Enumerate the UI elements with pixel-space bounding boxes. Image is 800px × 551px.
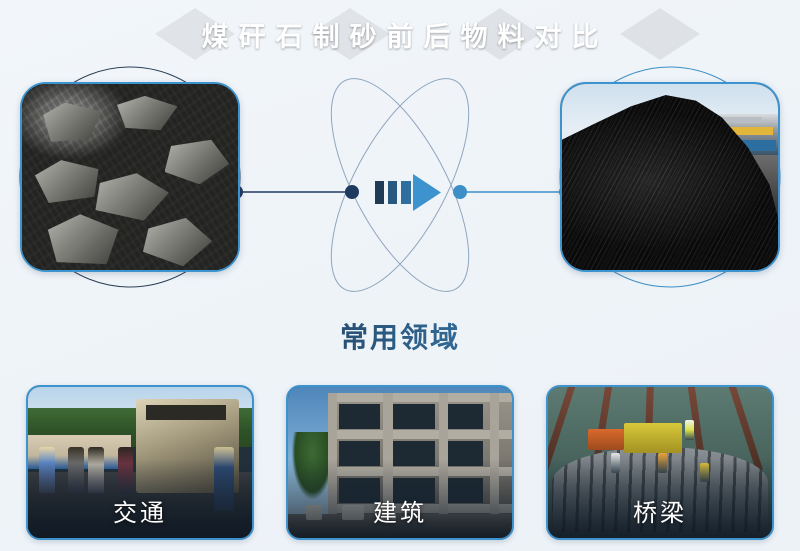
photo-after-sand-pile	[560, 82, 780, 272]
application-card-list: 交通	[0, 385, 800, 545]
process-arrow-icon	[375, 174, 441, 211]
node-dot-left-inner	[345, 185, 359, 199]
photo-after-image	[562, 84, 778, 270]
infographic-page: 煤矸石制砂前后物料对比	[0, 0, 800, 551]
construction-machine	[624, 423, 682, 453]
card-construction[interactable]: 建筑	[286, 385, 514, 540]
card-transportation-label: 交通	[28, 493, 252, 528]
worker-figure	[118, 447, 134, 492]
card-transportation[interactable]: 交通	[26, 385, 254, 540]
photo-before-raw-gangue	[20, 82, 240, 272]
photo-before-image	[22, 84, 238, 270]
card-bridge[interactable]: 桥梁	[546, 385, 774, 540]
worker-figure	[658, 453, 667, 473]
title-banner: 煤矸石制砂前后物料对比	[20, 8, 780, 60]
worker-figure	[68, 447, 84, 492]
worker-figure	[611, 453, 620, 473]
node-dot-right-inner	[453, 185, 467, 199]
section-heading: 常用领域	[0, 316, 800, 356]
card-bridge-label: 桥梁	[548, 493, 772, 528]
worker-figure	[39, 447, 55, 492]
before-after-comparison	[0, 62, 800, 310]
worker-figure	[88, 447, 104, 492]
worker-figure	[700, 463, 709, 483]
construction-machine	[588, 429, 624, 450]
page-title: 煤矸石制砂前后物料对比	[20, 8, 780, 60]
asphalt-paver	[136, 399, 239, 493]
card-construction-label: 建筑	[288, 493, 512, 528]
worker-figure	[685, 420, 694, 440]
